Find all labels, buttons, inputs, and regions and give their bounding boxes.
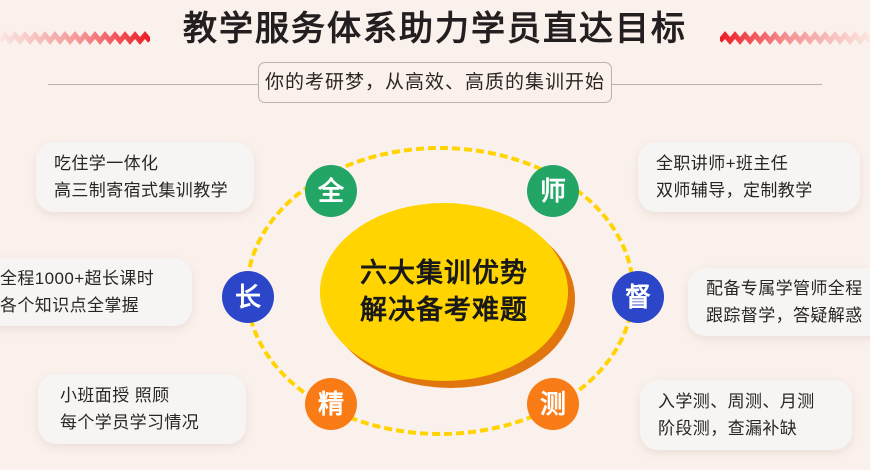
info-card-left-2-line2: 各个知识点全掌握 — [0, 292, 192, 319]
info-card-right-2[interactable]: 配备专属学管师全程 跟踪督学，答疑解惑 — [688, 268, 870, 336]
info-card-right-1-line2: 双师辅导，定制教学 — [656, 177, 860, 204]
badge-ce[interactable]: 测 — [527, 378, 579, 430]
info-card-left-1-line2: 高三制寄宿式集训教学 — [54, 177, 254, 204]
header: 教学服务体系助力学员直达目标 你的考研梦，从高效、高质的集训开始 — [0, 0, 870, 118]
subtitle-box: 你的考研梦，从高效、高质的集训开始 — [258, 62, 612, 103]
info-card-left-3-line2: 每个学员学习情况 — [60, 409, 246, 436]
center-headline-line1: 六大集训优势 — [360, 255, 528, 292]
info-card-left-3[interactable]: 小班面授 照顾 每个学员学习情况 — [38, 374, 246, 444]
info-card-left-1-line1: 吃住学一体化 — [54, 150, 254, 177]
info-card-right-2-line1: 配备专属学管师全程 — [706, 275, 870, 302]
poster-canvas: 教学服务体系助力学员直达目标 你的考研梦，从高效、高质的集训开始 六大集训 — [0, 0, 870, 470]
info-card-right-3[interactable]: 入学测、周测、月测 阶段测，查漏补缺 — [640, 380, 852, 450]
subtitle-row: 你的考研梦，从高效、高质的集训开始 — [0, 62, 870, 106]
info-card-right-3-line2: 阶段测，查漏补缺 — [658, 415, 852, 442]
divider-right — [600, 84, 822, 85]
info-card-left-1[interactable]: 吃住学一体化 高三制寄宿式集训教学 — [36, 142, 254, 212]
badge-shi[interactable]: 师 — [527, 165, 579, 217]
center-ellipse: 六大集训优势 解决备考难题 — [320, 203, 568, 381]
center-headline-line2: 解决备考难题 — [360, 292, 528, 329]
info-card-left-2[interactable]: 全程1000+超长课时 各个知识点全掌握 — [0, 258, 192, 326]
info-card-left-2-line1: 全程1000+超长课时 — [0, 265, 192, 292]
divider-left — [48, 84, 270, 85]
badge-jing[interactable]: 精 — [305, 378, 357, 430]
info-card-right-1[interactable]: 全职讲师+班主任 双师辅导，定制教学 — [638, 142, 860, 212]
badge-chang[interactable]: 长 — [222, 271, 274, 323]
info-card-left-3-line1: 小班面授 照顾 — [60, 382, 246, 409]
badge-du[interactable]: 督 — [612, 271, 664, 323]
subtitle-text: 你的考研梦，从高效、高质的集训开始 — [265, 71, 605, 95]
info-card-right-2-line2: 跟踪督学，答疑解惑 — [706, 302, 870, 329]
info-card-right-3-line1: 入学测、周测、月测 — [658, 388, 852, 415]
advantages-diagram: 六大集训优势 解决备考难题 全 师 长 督 精 测 吃住学一体化 高三制寄宿式集… — [0, 118, 870, 470]
zigzag-decoration-right-icon — [720, 30, 870, 46]
badge-quan[interactable]: 全 — [305, 165, 357, 217]
info-card-right-1-line1: 全职讲师+班主任 — [656, 150, 860, 177]
